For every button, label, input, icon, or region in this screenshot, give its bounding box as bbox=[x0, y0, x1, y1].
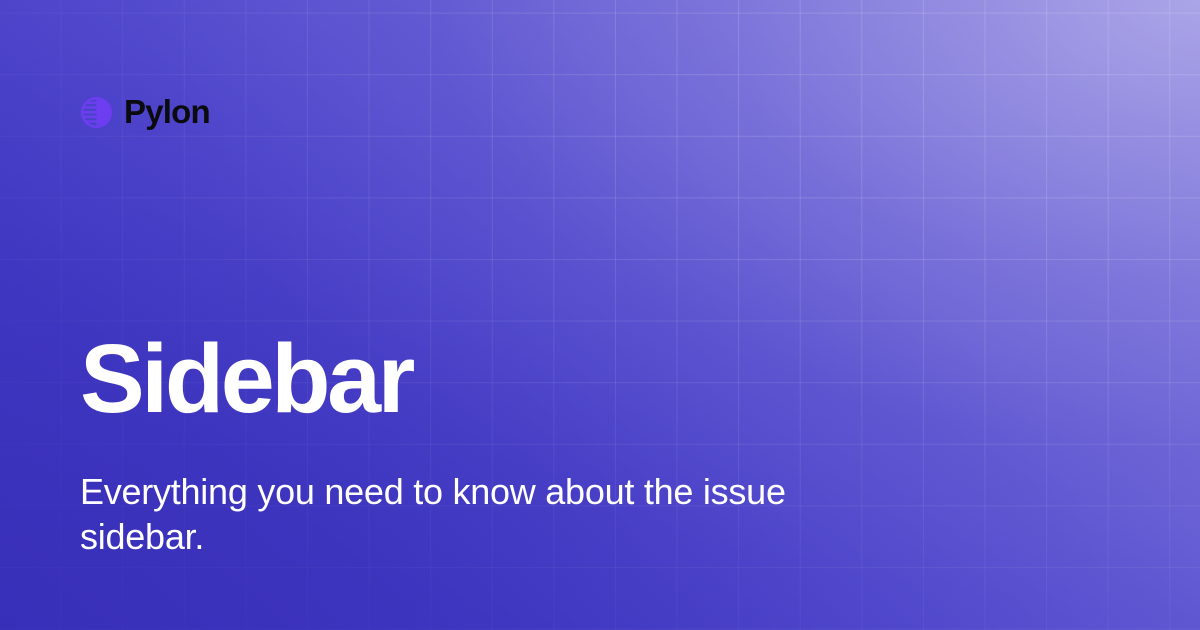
brand-name: Pylon bbox=[124, 95, 210, 128]
brand-lockup[interactable]: Pylon bbox=[80, 90, 210, 134]
hero-text-block: Sidebar Everything you need to know abou… bbox=[80, 330, 910, 559]
page-title: Sidebar bbox=[80, 330, 910, 427]
og-card: Pylon Sidebar Everything you need to kno… bbox=[0, 0, 1200, 630]
page-subtitle: Everything you need to know about the is… bbox=[80, 469, 875, 559]
pylon-circle-logo-icon bbox=[80, 96, 113, 129]
card-content: Pylon Sidebar Everything you need to kno… bbox=[0, 0, 1200, 630]
